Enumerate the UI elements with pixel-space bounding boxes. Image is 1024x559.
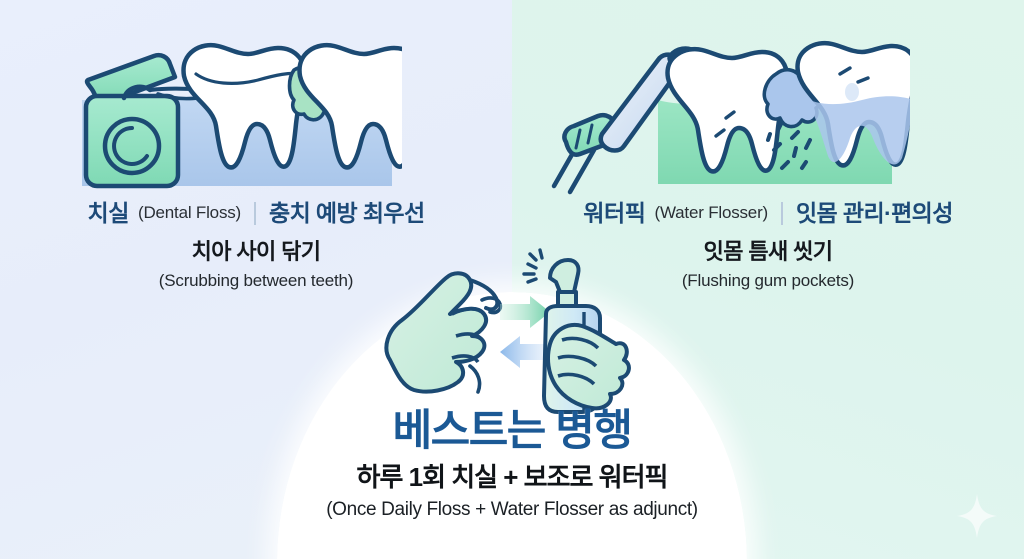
conclusion-text-block: 베스트는 병행 하루 1회 치실 + 보조로 워터픽 (Once Daily F… [0,408,1024,521]
right-action-ko: 잇몸 틈새 씻기 [512,239,1024,265]
left-divider-icon [254,202,256,225]
right-term-en: (Water Flosser) [655,203,769,223]
conclusion-subtitle-en: (Once Daily Floss + Water Flosser as adj… [0,499,1024,522]
infographic-canvas: 치실 (Dental Floss) 충치 예방 최우선 치아 사이 닦기 (Sc… [0,0,1024,559]
conclusion-title: 베스트는 병행 [0,408,1024,454]
water-flosser-illustration [540,26,910,202]
right-term-ko: 워터픽 [583,200,645,226]
left-panel-text-block: 치실 (Dental Floss) 충치 예방 최우선 치아 사이 닦기 (Sc… [0,200,512,291]
arrow-left-icon [500,336,550,368]
right-action-en: (Flushing gum pockets) [512,270,1024,291]
right-divider-icon [781,202,783,225]
dental-floss-illustration [62,28,402,200]
left-action-en: (Scrubbing between teeth) [0,270,512,291]
right-headline: 워터픽 (Water Flosser) 잇몸 관리·편의성 [512,200,1024,226]
arrow-right-icon [500,296,550,328]
left-action-ko: 치아 사이 닦기 [0,239,512,265]
conclusion-subtitle-ko: 하루 1회 치실 + 보조로 워터픽 [0,462,1024,493]
floss-container-icon [86,55,178,186]
hand-holding-floss-icon [386,273,500,392]
left-term-ko: 치실 [87,200,129,226]
right-panel-text-block: 워터픽 (Water Flosser) 잇몸 관리·편의성 잇몸 틈새 씻기 (… [512,200,1024,291]
left-benefit-ko: 충치 예방 최우선 [269,200,425,226]
left-headline: 치실 (Dental Floss) 충치 예방 최우선 [0,200,512,226]
left-term-en: (Dental Floss) [138,203,241,223]
right-benefit-ko: 잇몸 관리·편의성 [796,200,953,226]
